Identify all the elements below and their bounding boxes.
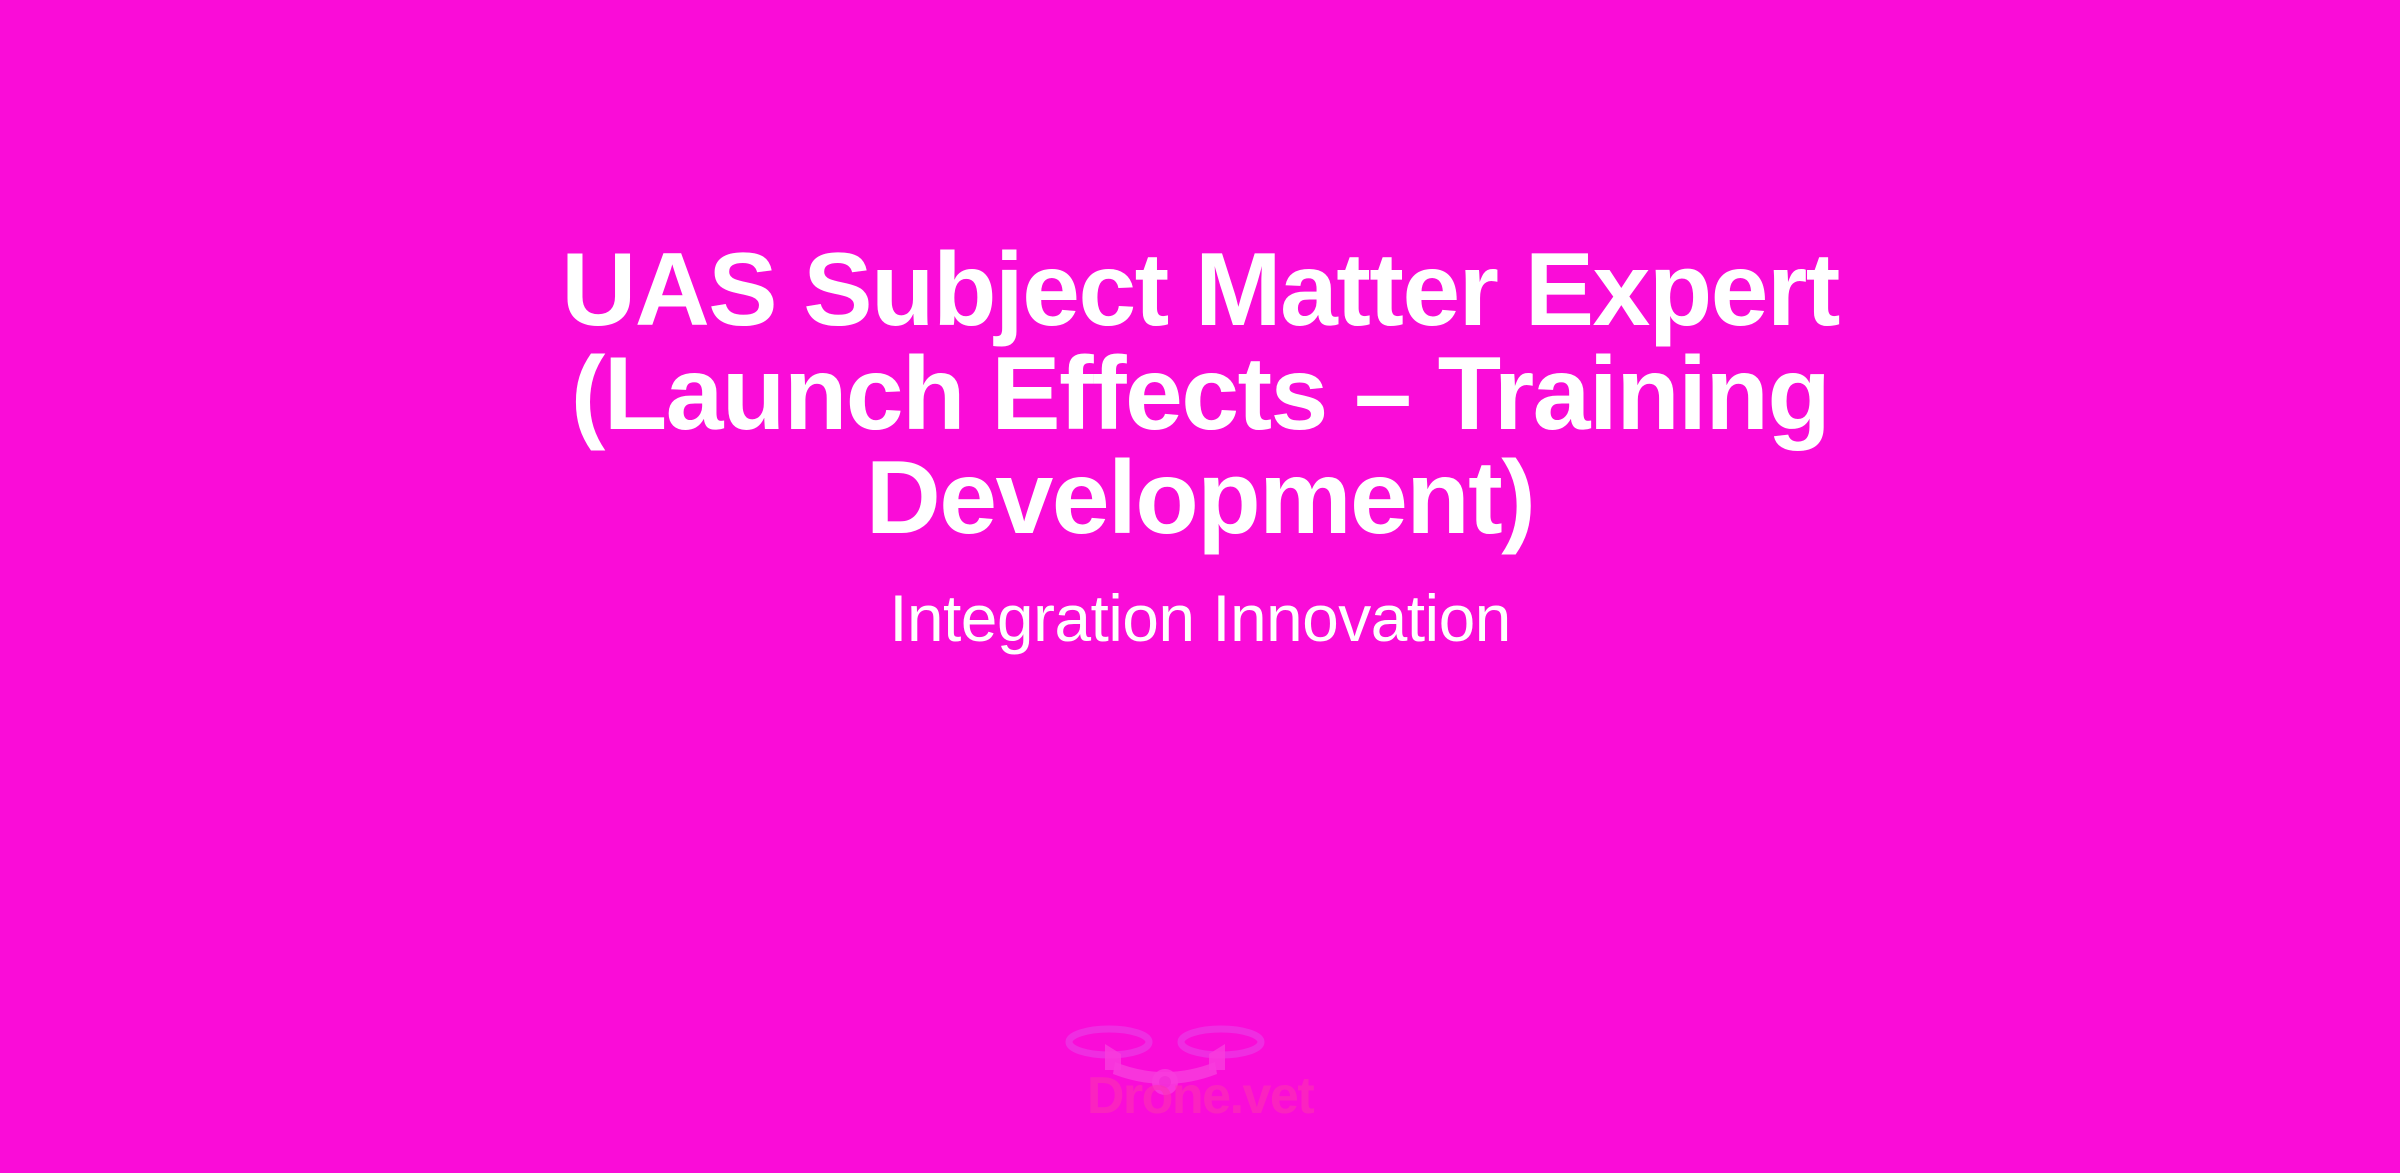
page-title: UAS Subject Matter Expert (Launch Effect… [420, 238, 1980, 550]
watermark-brand-text: Drone.vet [1045, 1070, 1355, 1122]
drone-icon [1045, 1018, 1355, 1128]
page-title-line-3: Development) [420, 446, 1980, 550]
watermark-logo: Drone.vet [1045, 1018, 1355, 1128]
slide-canvas: UAS Subject Matter Expert (Launch Effect… [0, 0, 2400, 1173]
page-title-line-1: UAS Subject Matter Expert [420, 238, 1980, 342]
page-title-line-2: (Launch Effects – Training [420, 342, 1980, 446]
slide-text-block: UAS Subject Matter Expert (Launch Effect… [0, 238, 2400, 653]
page-subtitle: Integration Innovation [420, 584, 1980, 653]
